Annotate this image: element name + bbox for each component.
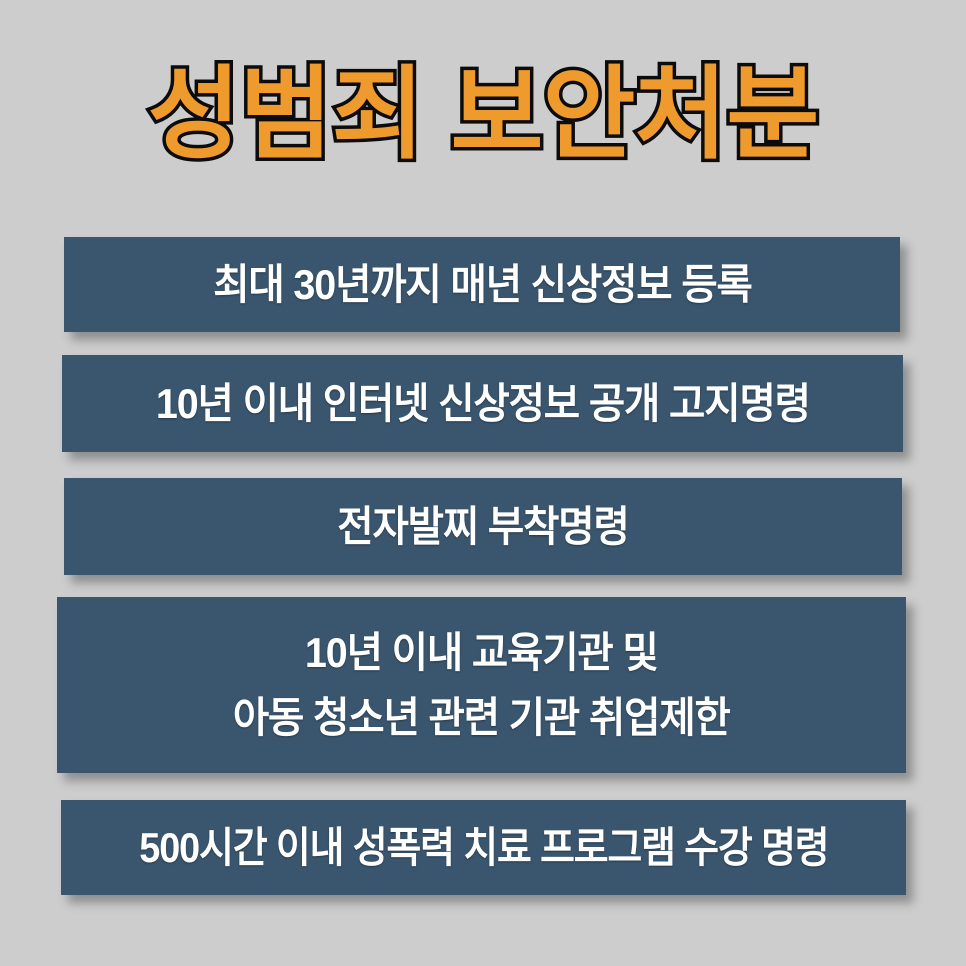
measure-bar-2: 10년 이내 인터넷 신상정보 공개 고지명령 [62,355,903,452]
measure-bar-3-line-1: 전자발찌 부착명령 [337,502,628,552]
measure-bar-4-line-1: 10년 이내 교육기관 및 [233,620,730,685]
measure-bar-3: 전자발찌 부착명령 [64,478,902,575]
measure-bar-1-line-1: 최대 30년까지 매년 신상정보 등록 [213,260,752,310]
measure-bar-5-text: 500시간 이내 성폭력 치료 프로그램 수강 명령 [139,823,828,873]
measure-bar-5: 500시간 이내 성폭력 치료 프로그램 수강 명령 [61,800,906,895]
measure-bar-4-line-2: 아동 청소년 관련 기관 취업제한 [233,685,730,750]
measures-list: 최대 30년까지 매년 신상정보 등록 10년 이내 인터넷 신상정보 공개 고… [0,0,966,966]
measure-bar-4-text: 10년 이내 교육기관 및 아동 청소년 관련 기관 취업제한 [233,620,730,750]
measure-bar-1-text: 최대 30년까지 매년 신상정보 등록 [213,260,752,310]
measure-bar-1: 최대 30년까지 매년 신상정보 등록 [64,237,900,332]
measure-bar-5-line-1: 500시간 이내 성폭력 치료 프로그램 수강 명령 [139,823,828,873]
poster-root: 성범죄 보안처분 최대 30년까지 매년 신상정보 등록 10년 이내 인터넷 … [0,0,966,966]
measure-bar-4: 10년 이내 교육기관 및 아동 청소년 관련 기관 취업제한 [57,597,906,773]
measure-bar-2-line-1: 10년 이내 인터넷 신상정보 공개 고지명령 [156,379,810,429]
measure-bar-2-text: 10년 이내 인터넷 신상정보 공개 고지명령 [156,379,810,429]
measure-bar-3-text: 전자발찌 부착명령 [337,502,628,552]
